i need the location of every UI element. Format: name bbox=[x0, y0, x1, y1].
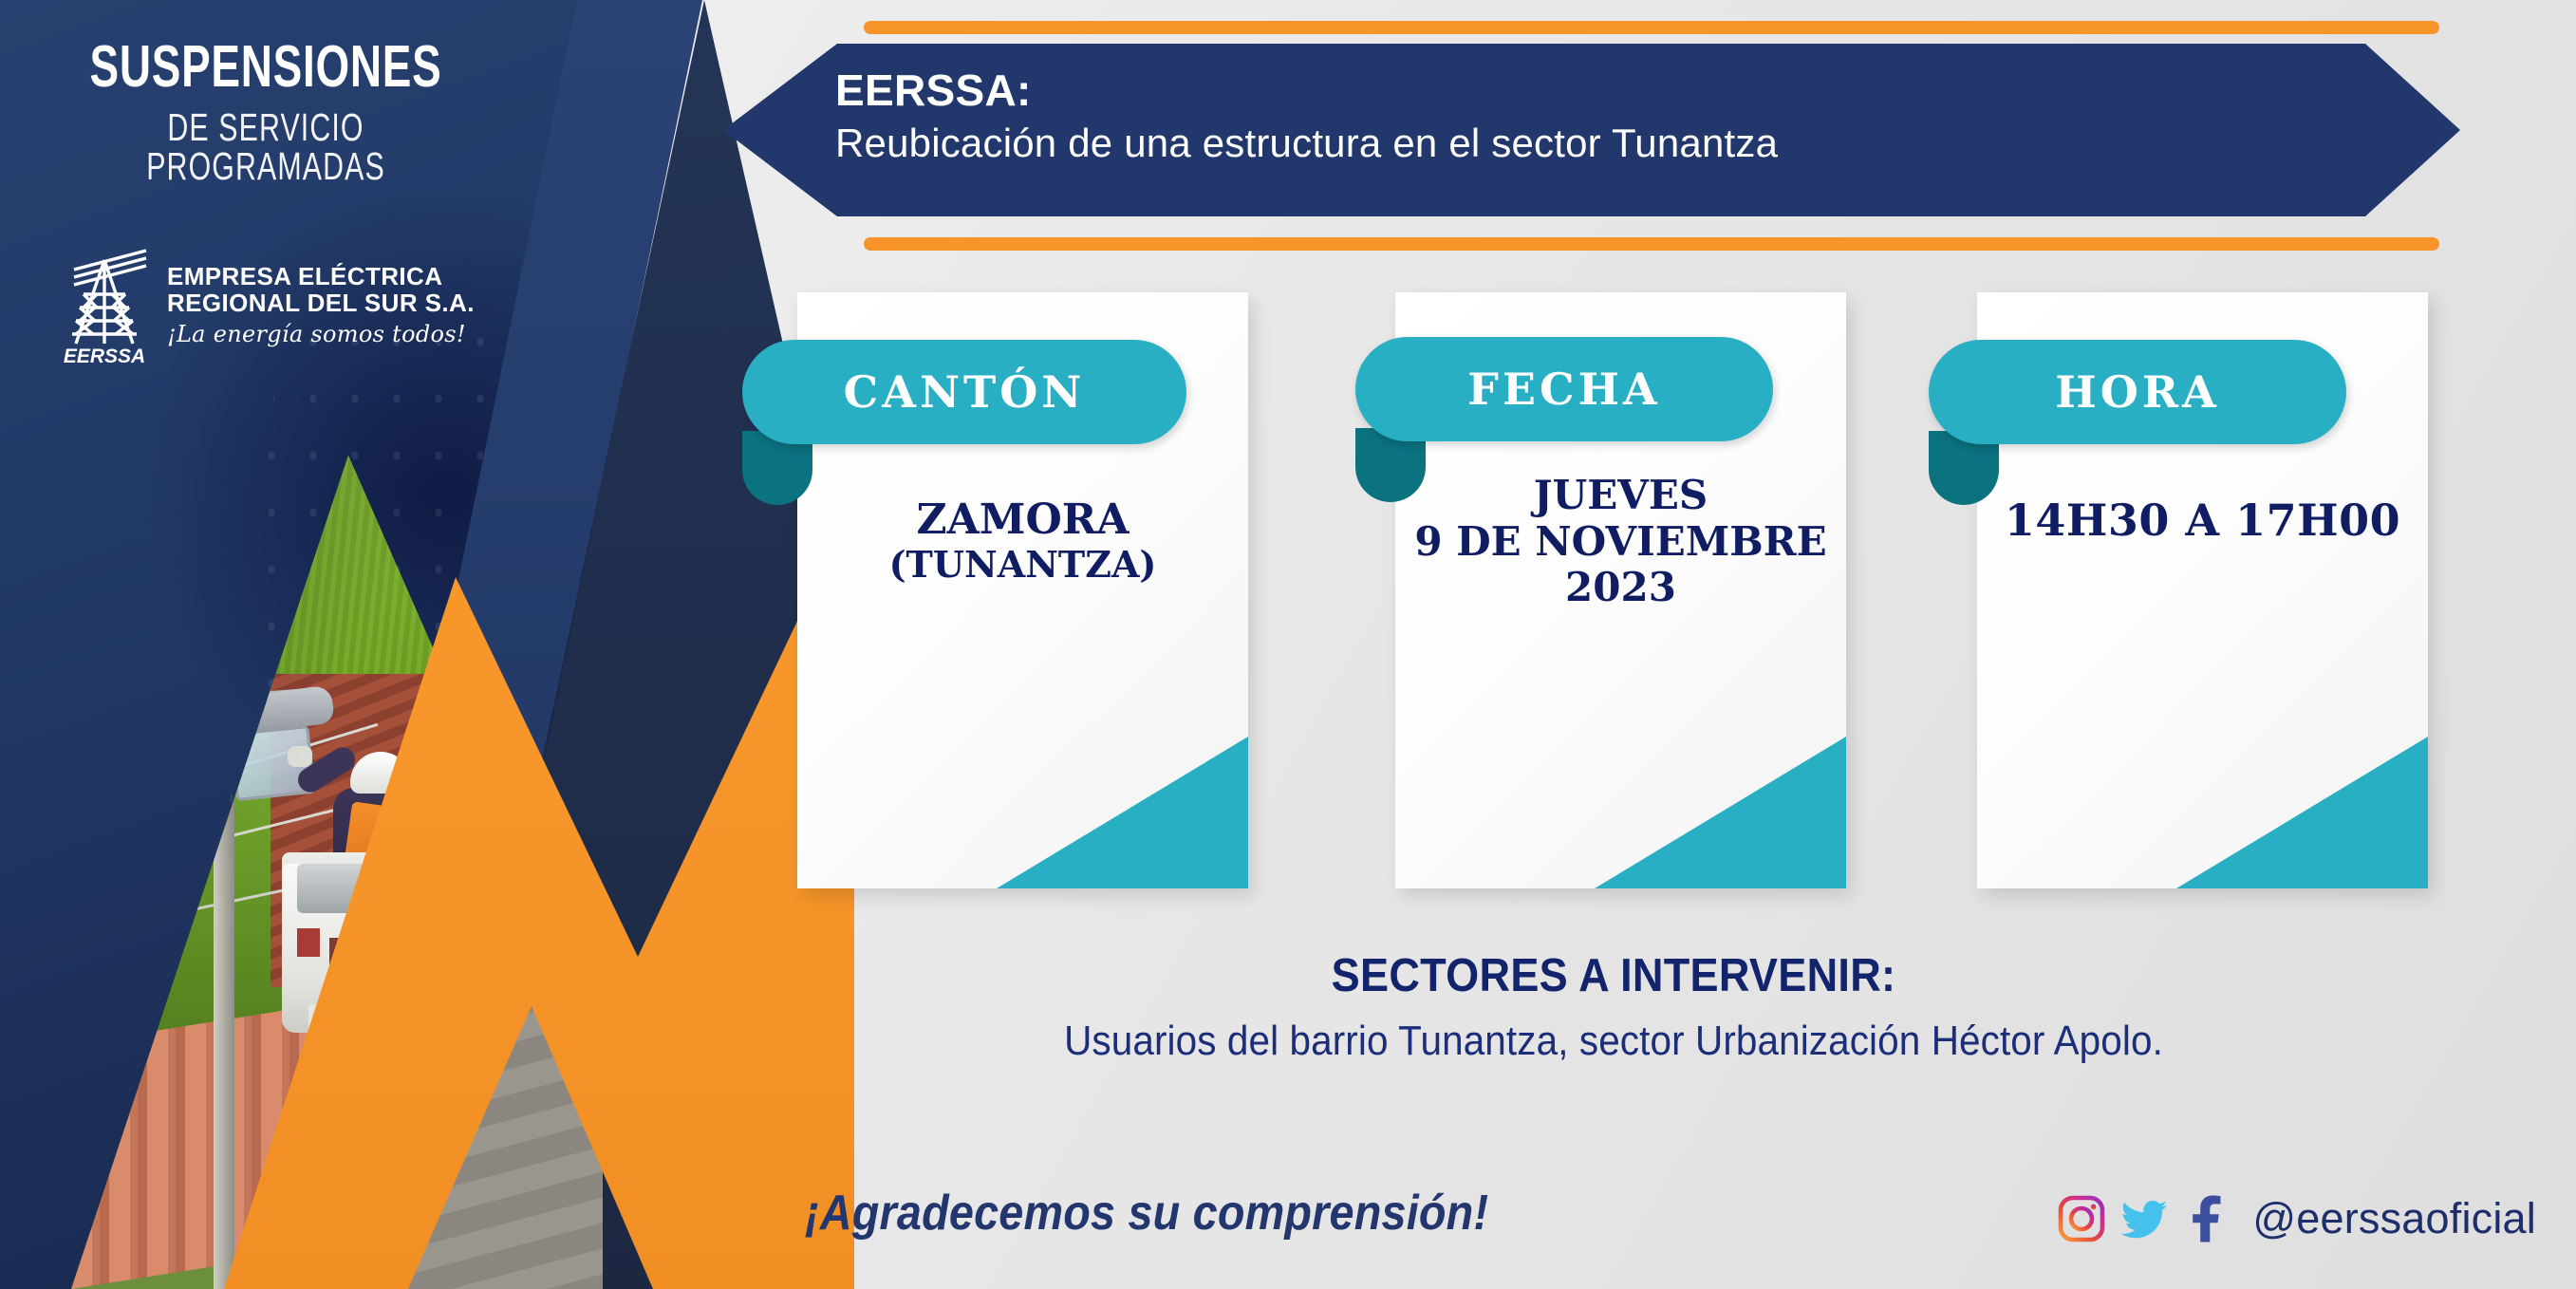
card-fecha-label: FECHA bbox=[1467, 364, 1660, 415]
card-canton-label-ribbon: CANTÓN bbox=[742, 340, 1186, 444]
card-corner-triangle bbox=[997, 737, 1248, 888]
banner-company: EERSSA: bbox=[835, 66, 1778, 116]
card-hora-label: HORA bbox=[2055, 366, 2219, 418]
card-canton-value: ZAMORA (TUNANTZA) bbox=[797, 495, 1248, 586]
ribbon-pill: FECHA bbox=[1355, 337, 1773, 441]
card-hora-label-ribbon: HORA bbox=[1929, 340, 2346, 444]
ribbon-pill: HORA bbox=[1929, 340, 2346, 444]
info-cards: ZAMORA (TUNANTZA) JUEVES 9 DE NOVIEMBRE … bbox=[0, 0, 2576, 1289]
card-canton-value-sub: (TUNANTZA) bbox=[807, 544, 1239, 586]
twitter-icon[interactable] bbox=[2119, 1194, 2169, 1243]
header-banner-text: EERSSA: Reubicación de una estructura en… bbox=[835, 66, 1778, 166]
card-hora-value: 14H30 A 17H00 bbox=[1977, 495, 2428, 546]
card-corner-triangle bbox=[1595, 737, 1846, 888]
sectors-title: SECTORES A INTERVENIR: bbox=[793, 949, 2435, 1002]
facebook-icon[interactable] bbox=[2182, 1194, 2231, 1243]
ribbon-pill: CANTÓN bbox=[742, 340, 1186, 444]
suspension-notice-poster: SUSPENSIONES DE SERVICIO PROGRAMADAS EER… bbox=[0, 0, 2576, 1289]
thanks-message: ¡Agradecemos su comprensión! bbox=[805, 1185, 1488, 1242]
card-canton-label: CANTÓN bbox=[844, 366, 1086, 418]
card-canton-value-main: ZAMORA bbox=[917, 495, 1129, 544]
card-fecha-value: JUEVES 9 DE NOVIEMBRE 2023 bbox=[1395, 473, 1846, 611]
banner-description: Reubicación de una estructura en el sect… bbox=[835, 120, 1778, 167]
sectors-section: SECTORES A INTERVENIR: Usuarios del barr… bbox=[721, 949, 2506, 1065]
social-links: @eerssaoficial bbox=[2057, 1194, 2536, 1243]
social-handle: @eerssaoficial bbox=[2252, 1194, 2536, 1243]
instagram-icon[interactable] bbox=[2057, 1194, 2106, 1243]
card-corner-triangle bbox=[2176, 737, 2428, 888]
sectors-body: Usuarios del barrio Tunantza, sector Urb… bbox=[793, 1018, 2435, 1065]
card-fecha-label-ribbon: FECHA bbox=[1355, 337, 1773, 441]
